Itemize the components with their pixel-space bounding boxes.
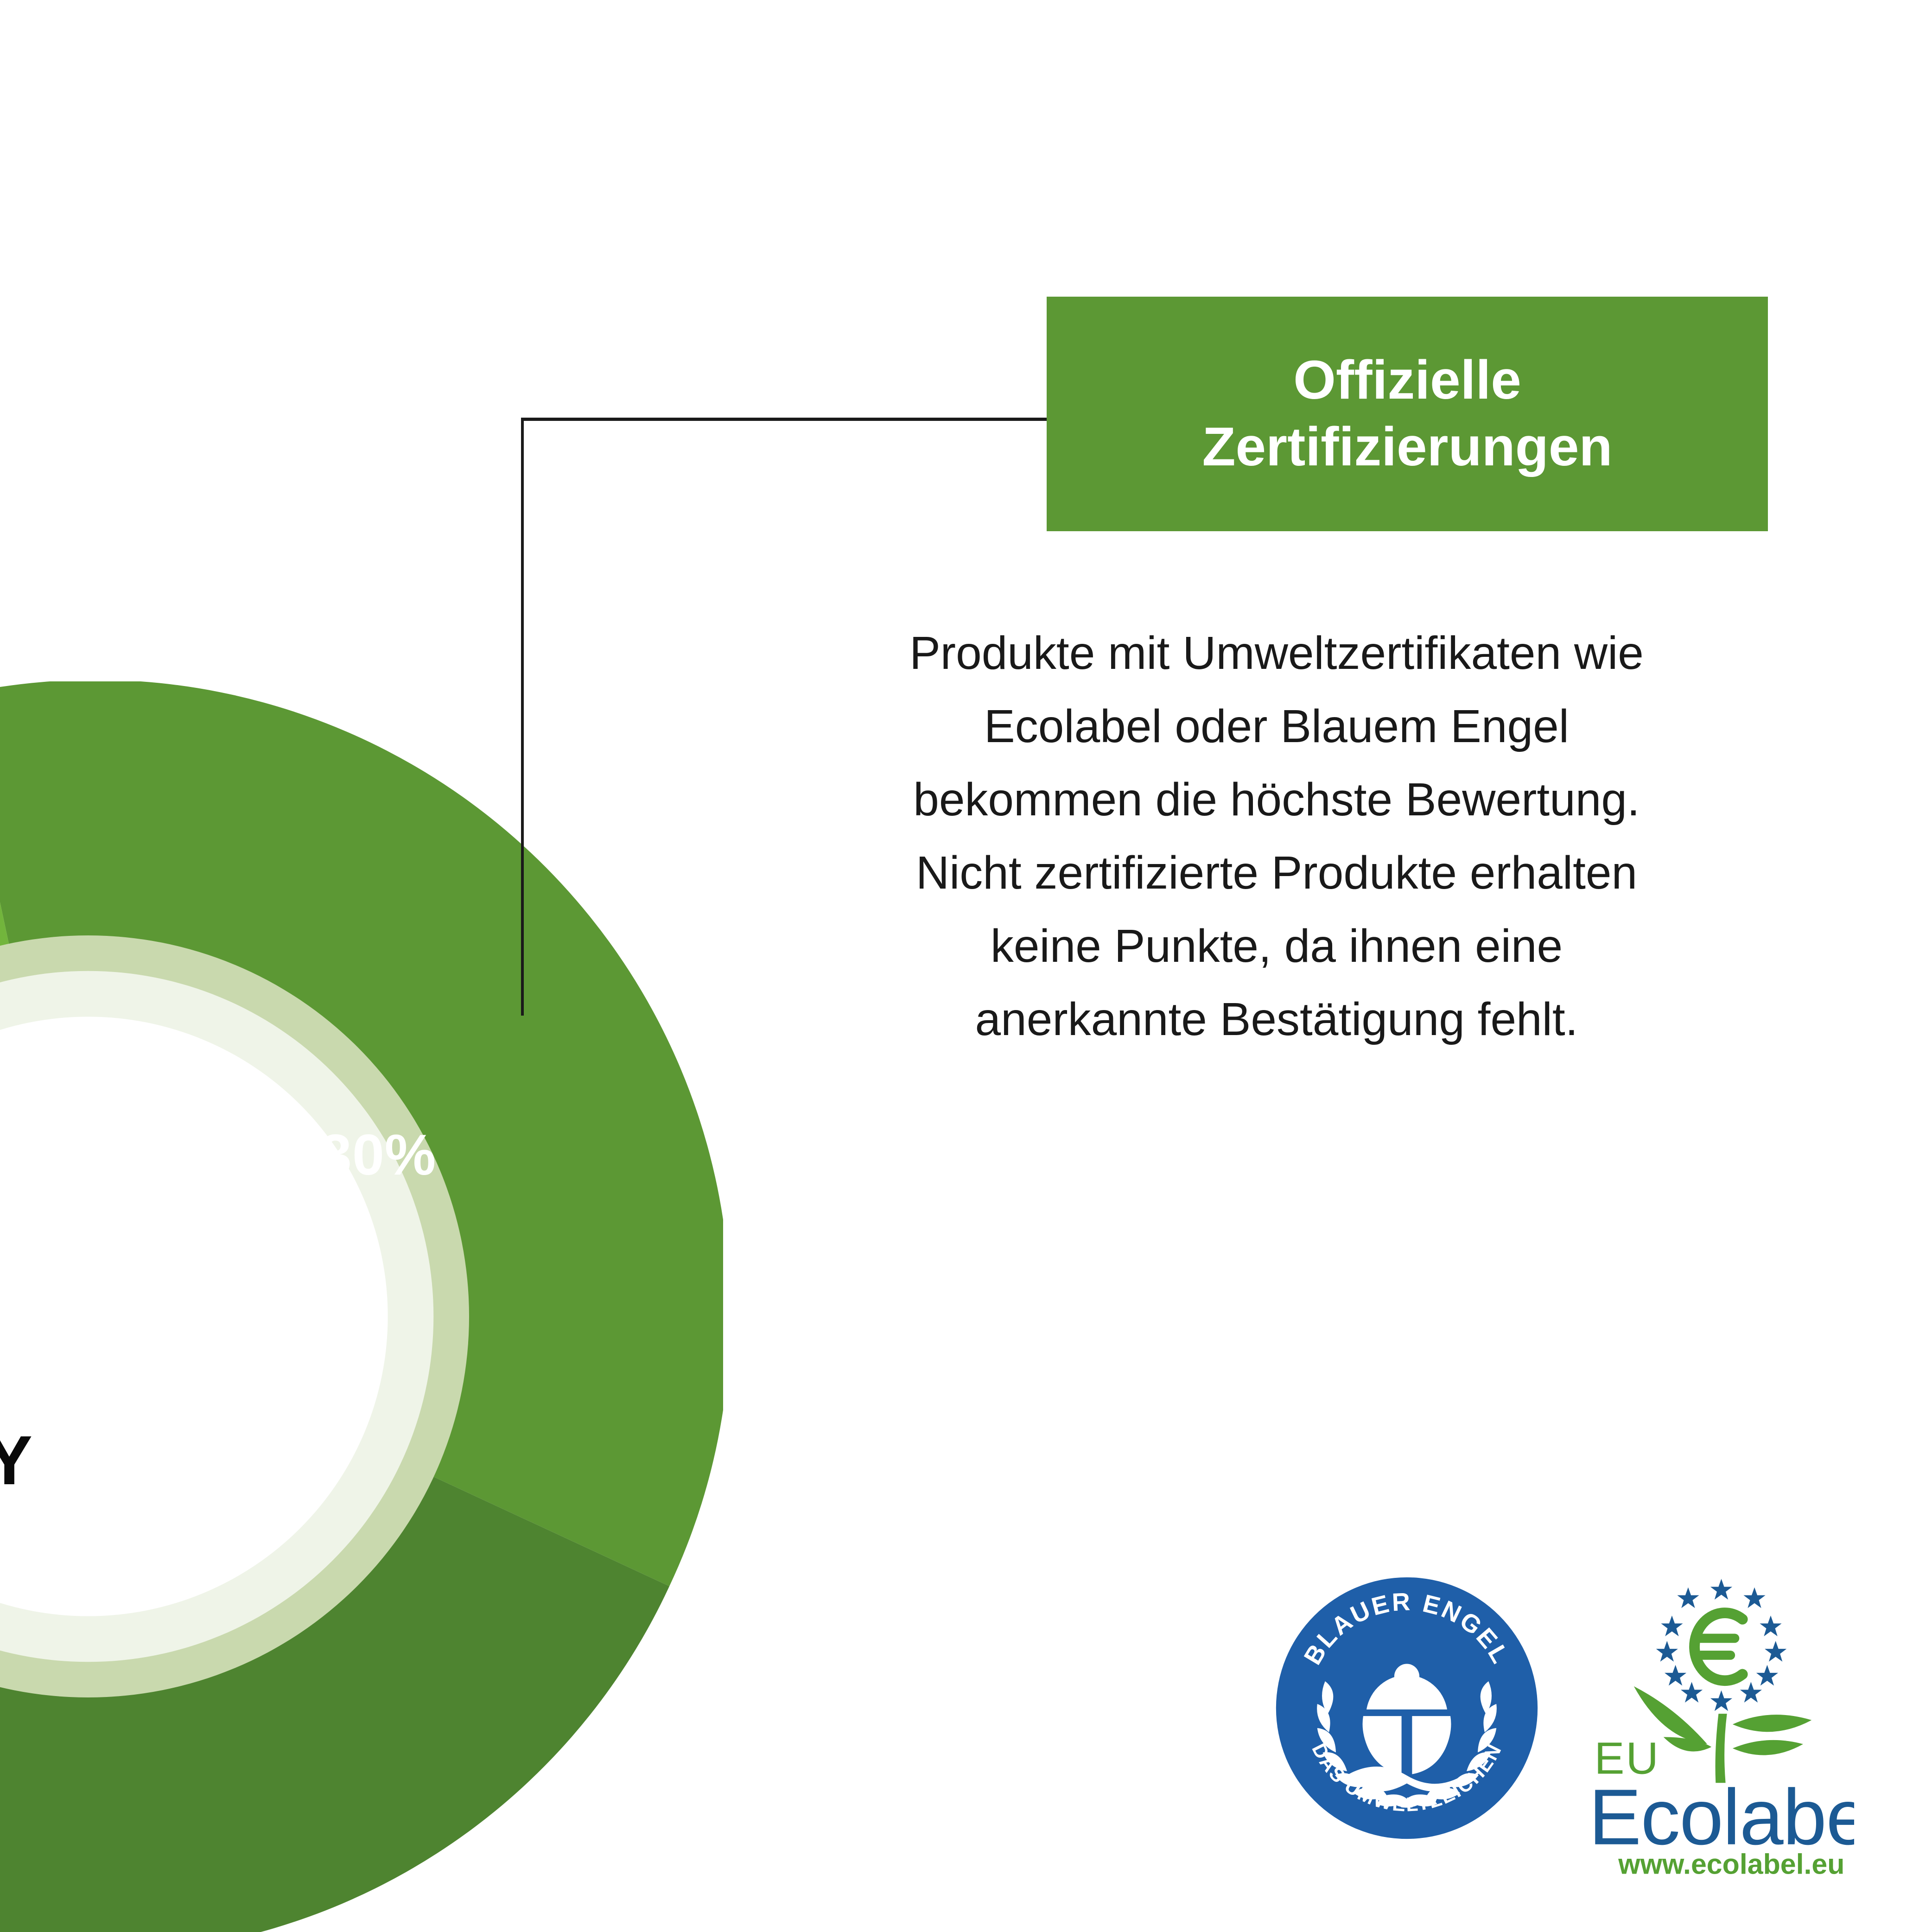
blauer-engel-logo[interactable]: BLAUER ENGEL DAS UMWELTZEICHEN — [1275, 1576, 1539, 1840]
eu-ecolabel-icon: EU Ecolabel www.ecolabel.eu — [1557, 1562, 1854, 1887]
eu-ecolabel-url: www.ecolabel.eu — [1618, 1849, 1844, 1880]
pie-chart-region — [0, 0, 742, 1932]
leader-line-horizontal — [521, 418, 1049, 421]
euro-symbol — [1695, 1613, 1743, 1681]
eu-stars — [1656, 1579, 1787, 1711]
description-paragraph: Produkte mit Umweltzertifikaten wie Ecol… — [783, 616, 1770, 1056]
donut-chart — [0, 681, 723, 1932]
leader-line-vertical — [521, 418, 524, 1016]
certification-logos: BLAUER ENGEL DAS UMWELTZEICHEN — [1270, 1562, 1863, 1887]
eu-ecolabel-logo[interactable]: EU Ecolabel www.ecolabel.eu — [1557, 1562, 1854, 1887]
donut-center-label: Y — [0, 1425, 32, 1495]
certification-title-card: Offizielle Zertifizierungen — [1047, 297, 1768, 531]
pie-slice-value-label: 30% — [320, 1126, 436, 1184]
blauer-engel-icon: BLAUER ENGEL DAS UMWELTZEICHEN — [1275, 1576, 1539, 1840]
page-title: Offizielle Zertifizierungen — [1202, 347, 1612, 481]
